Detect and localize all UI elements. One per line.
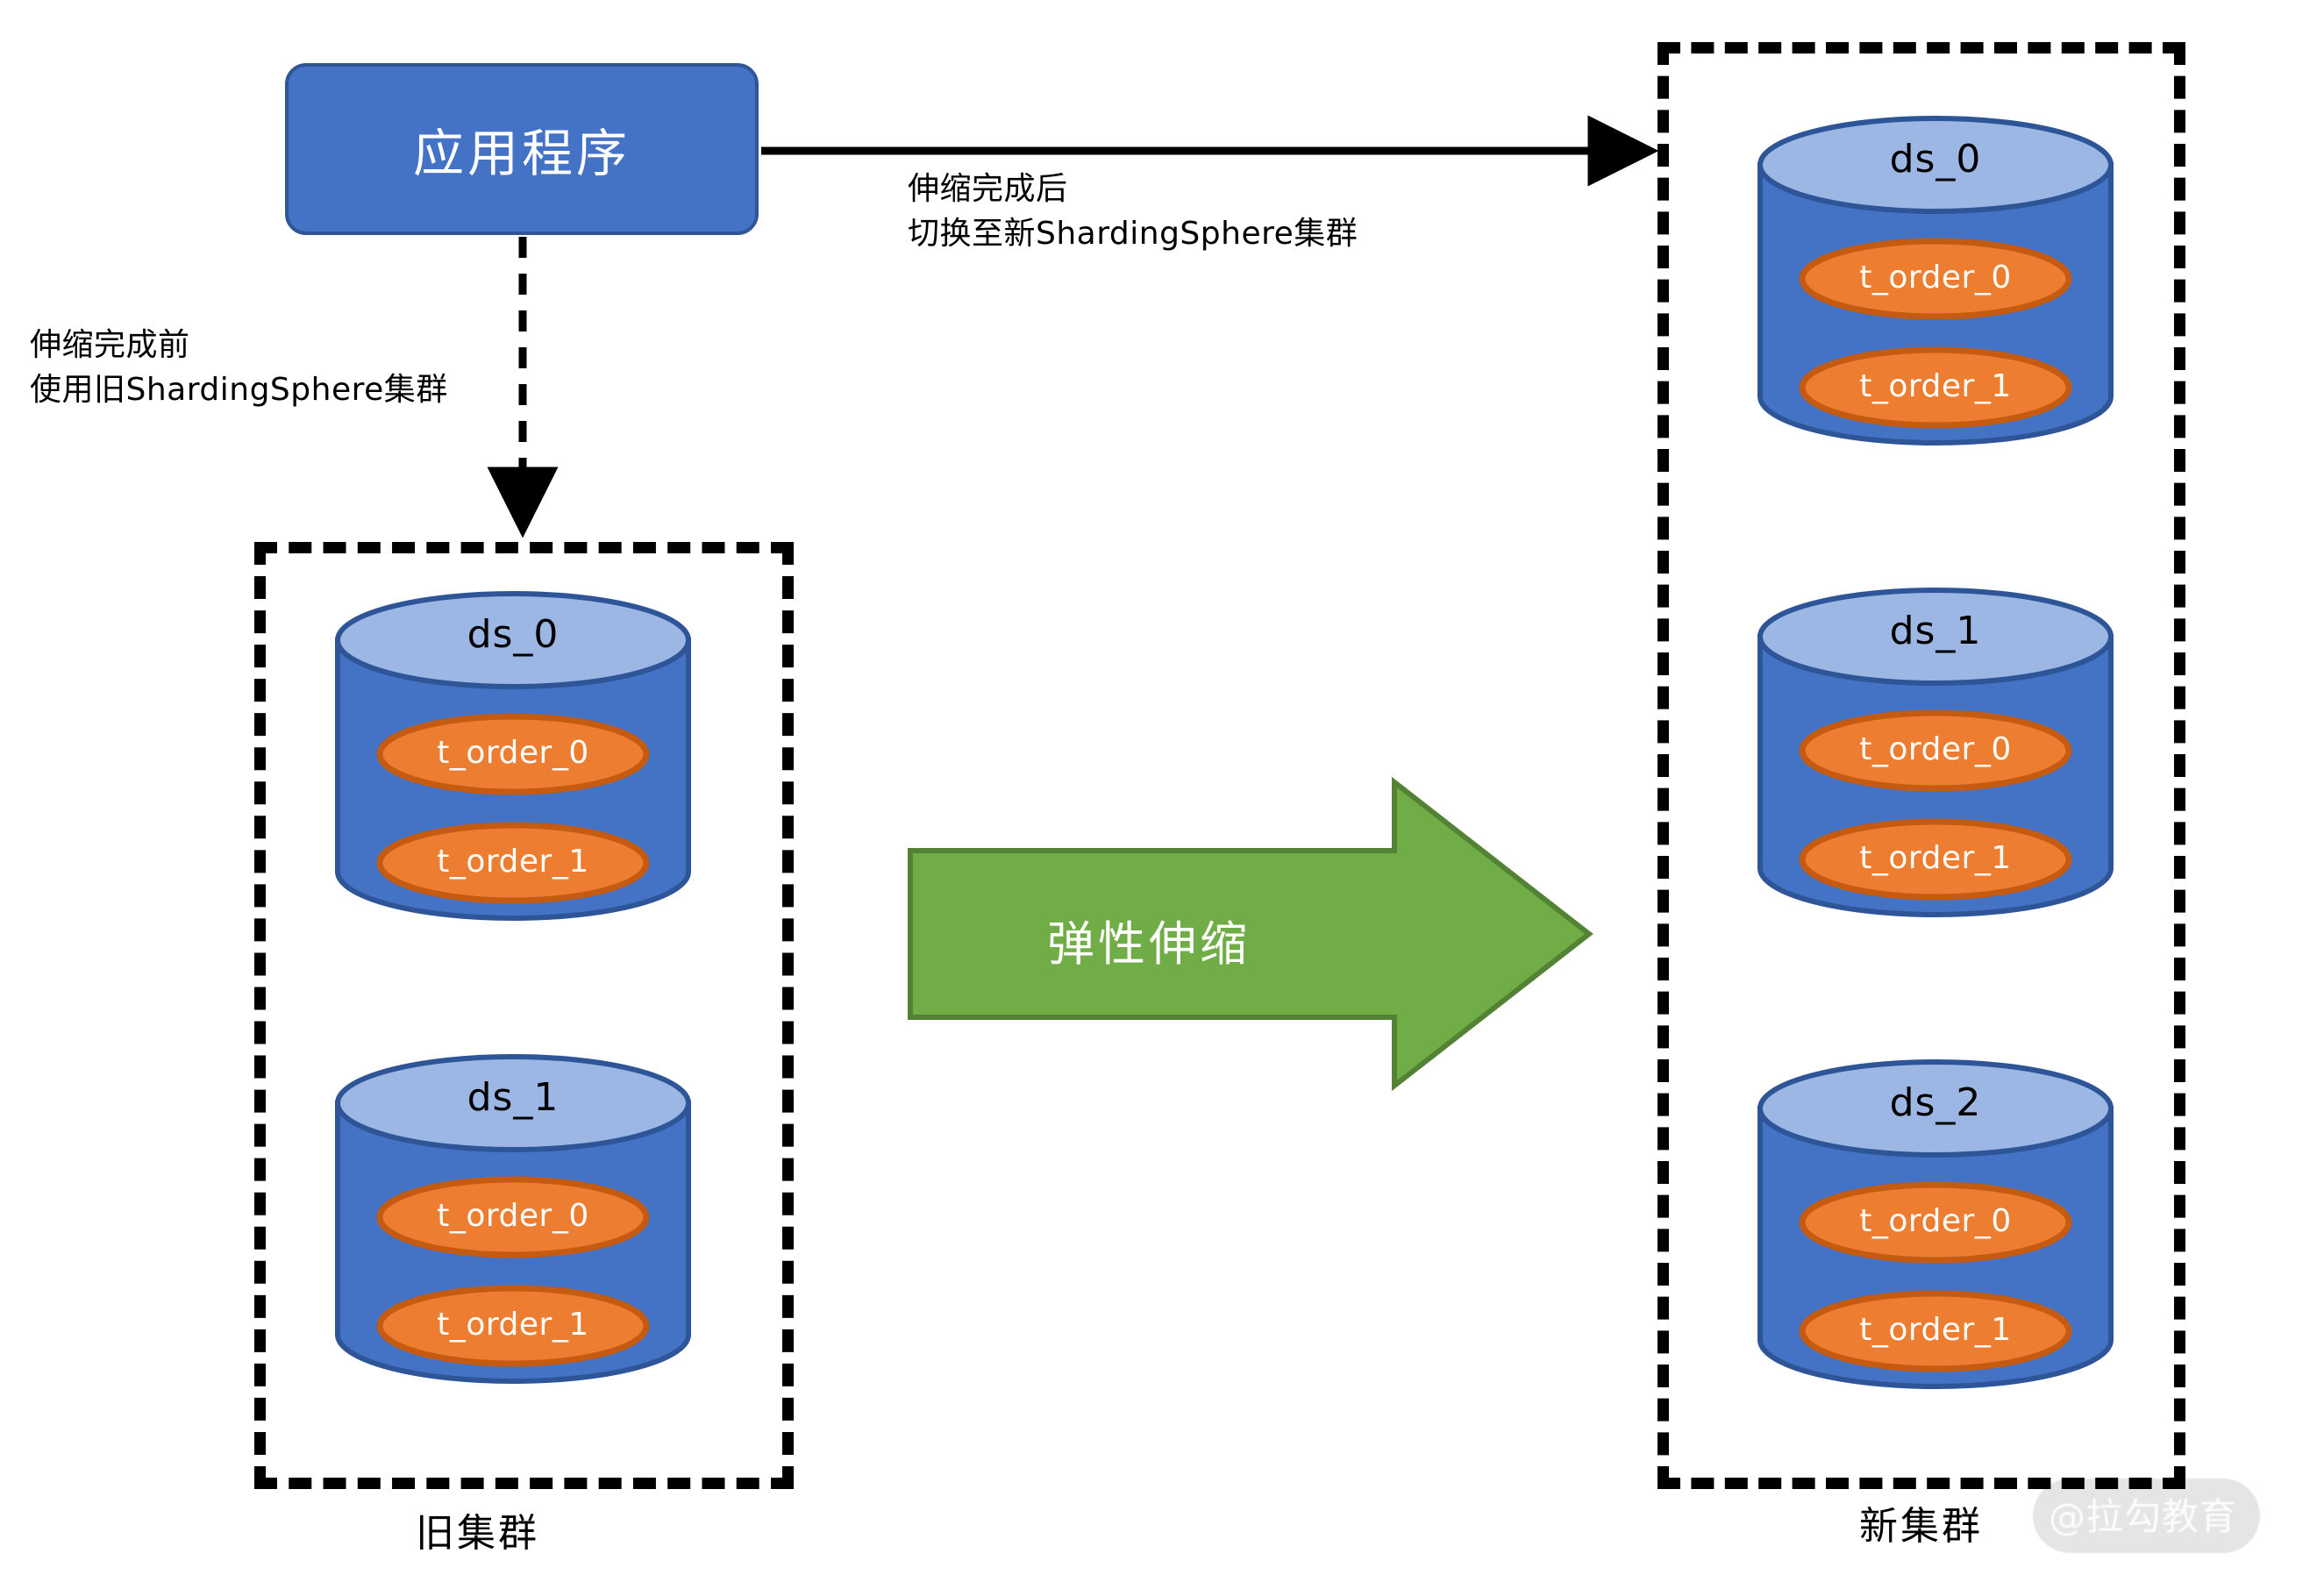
annotation-after-scaling: 伸缩完成后 切换至新ShardingSphere集群 <box>908 167 1358 256</box>
database-cylinder-new-ds0[interactable]: ds_0 t_order_0 t_order_1 <box>1756 114 2115 447</box>
table-ellipse <box>1802 241 2069 317</box>
table-ellipse <box>380 716 646 792</box>
database-cylinder-old-ds0[interactable]: ds_0 t_order_0 t_order_1 <box>333 589 693 923</box>
application-box[interactable]: 应用程序 <box>285 63 759 235</box>
table-ellipse <box>1802 1185 2069 1260</box>
watermark: @拉勾教育 <box>2033 1479 2260 1553</box>
diagram-canvas: 应用程序 伸缩完成前 使用旧ShardingSphere集群 伸缩完成后 切换至… <box>0 0 2324 1582</box>
table-ellipse <box>1802 713 2069 788</box>
annotation-before-scaling: 伸缩完成前 使用旧ShardingSphere集群 <box>30 323 448 412</box>
elastic-scaling-arrow: 弹性伸缩 <box>903 772 1596 1096</box>
table-ellipse <box>1802 350 2069 425</box>
database-cylinder-old-ds1[interactable]: ds_1 t_order_0 t_order_1 <box>333 1052 693 1386</box>
table-ellipse <box>1802 1293 2069 1369</box>
database-cylinder-new-ds1[interactable]: ds_1 t_order_0 t_order_1 <box>1756 586 2115 919</box>
new-cluster-caption: 新集群 <box>1859 1494 1983 1550</box>
database-cylinder-new-ds2[interactable]: ds_2 t_order_0 t_order_1 <box>1756 1058 2115 1391</box>
table-ellipse <box>380 825 646 901</box>
old-cluster-caption: 旧集群 <box>416 1501 539 1557</box>
table-ellipse <box>380 1179 646 1255</box>
application-box-label: 应用程序 <box>413 112 631 186</box>
table-ellipse <box>380 1288 646 1364</box>
table-ellipse <box>1802 822 2069 897</box>
